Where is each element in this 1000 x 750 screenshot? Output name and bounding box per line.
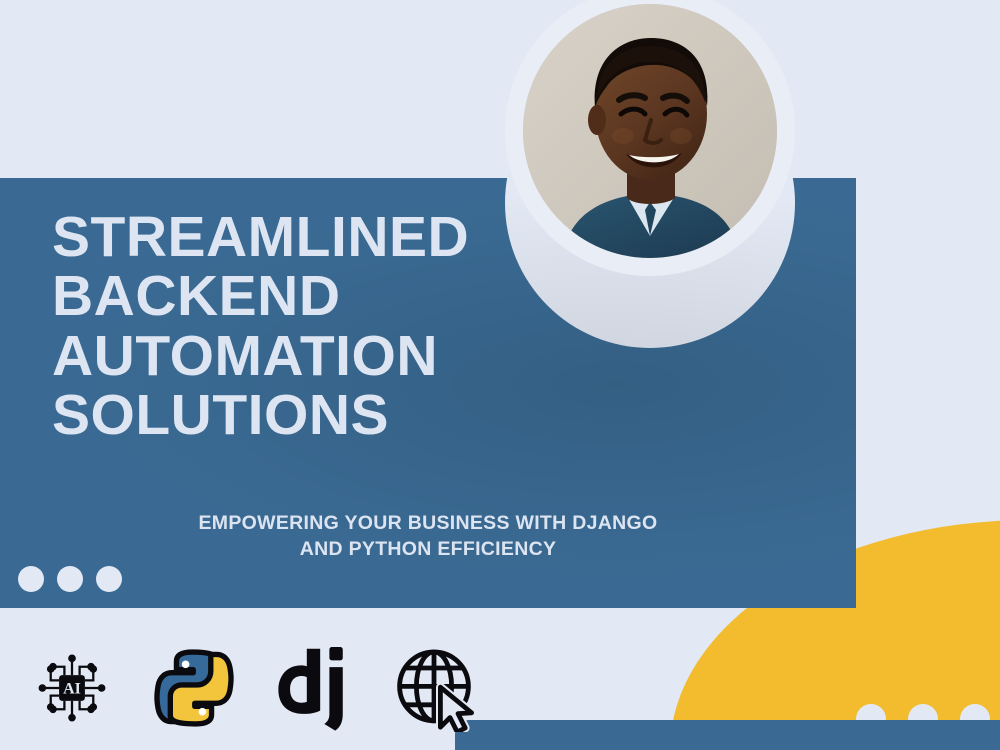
poster-canvas: Streamlined Backend Automation Solutions… bbox=[0, 0, 1000, 750]
globe-cursor-icon bbox=[390, 636, 486, 740]
ai-chip-icon: AI bbox=[24, 636, 120, 740]
headline-line-4: Solutions bbox=[52, 386, 572, 445]
python-logo-icon bbox=[146, 636, 242, 740]
panel-dot bbox=[96, 566, 122, 592]
panel-dots-group bbox=[18, 566, 122, 592]
panel-dot bbox=[57, 566, 83, 592]
subtitle-line-1: Empowering Your Business With Django bbox=[199, 512, 658, 534]
django-logo-icon bbox=[268, 636, 364, 740]
headline-line-1: Streamlined bbox=[52, 208, 572, 267]
svg-text:AI: AI bbox=[63, 680, 81, 697]
page-title: Streamlined Backend Automation Solutions bbox=[52, 208, 572, 445]
headline-line-2: Backend bbox=[52, 267, 572, 326]
panel-dot bbox=[18, 566, 44, 592]
portrait-photo bbox=[523, 4, 777, 258]
headline-line-3: Automation bbox=[52, 327, 572, 386]
subtitle: Empowering Your Business With Django And… bbox=[0, 511, 856, 563]
subtitle-line-2: And Python Efficiency bbox=[300, 538, 557, 560]
bottom-blue-bar bbox=[455, 720, 1000, 750]
tech-icon-row: AI bbox=[24, 636, 486, 740]
